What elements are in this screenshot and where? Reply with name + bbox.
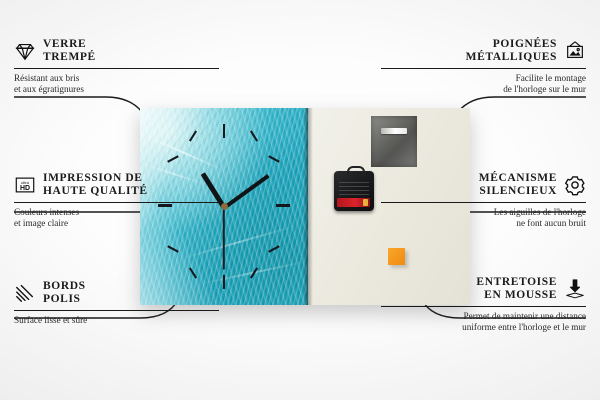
callout-title-line2: TREMPÉ xyxy=(43,51,96,64)
arrow-down-pad-icon xyxy=(564,278,586,300)
clock-mechanism xyxy=(334,171,374,211)
callout-divider xyxy=(14,310,219,311)
callout-title-line2: HAUTE QUALITÉ xyxy=(43,185,148,198)
hanger-plate xyxy=(371,116,417,167)
callout-poignees-metalliques: POIGNÉES MÉTALLIQUES Facilite le montage… xyxy=(381,38,586,95)
ultra-hd-icon: ultra HD xyxy=(14,174,36,196)
battery xyxy=(337,198,370,207)
callout-title-line1: POIGNÉES xyxy=(466,38,557,51)
hands-center-cap xyxy=(221,203,228,210)
callout-divider xyxy=(381,306,586,307)
callout-desc-line2: ne font aucun bruit xyxy=(381,218,586,229)
callout-verre-trempe: VERRE TREMPÉ Résistant aux bris et aux é… xyxy=(14,38,219,95)
callout-desc-line1: Facilite le montage xyxy=(381,73,586,84)
callout-desc-line2: uniforme entre l'horloge et le mur xyxy=(381,322,586,333)
callout-title-line1: IMPRESSION DE xyxy=(43,172,148,185)
second-hand xyxy=(223,207,225,269)
callout-divider xyxy=(381,202,586,203)
gear-icon xyxy=(564,174,586,196)
callout-divider xyxy=(14,68,219,69)
callout-desc-line2: et aux égratignures xyxy=(14,84,219,95)
callout-title-line2: MÉTALLIQUES xyxy=(466,51,557,64)
callout-desc-line2: de l'horloge sur le mur xyxy=(381,84,586,95)
diamond-icon xyxy=(14,40,36,62)
callout-header: ENTRETOISE EN MOUSSE xyxy=(381,276,586,302)
hanger-slot xyxy=(381,128,407,134)
callout-bords-polis: BORDS POLIS Surface lisse et sûre xyxy=(14,280,219,326)
callout-header: VERRE TREMPÉ xyxy=(14,38,219,64)
mechanism-loop xyxy=(347,166,365,176)
callout-divider xyxy=(381,68,586,69)
callout-desc-line2: et image claire xyxy=(14,218,219,229)
callout-mecanisme-silencieux: MÉCANISME SILENCIEUX Les aiguilles de l'… xyxy=(381,172,586,229)
callout-title-line1: BORDS xyxy=(43,280,86,293)
callout-header: ultra HD IMPRESSION DE HAUTE QUALITÉ xyxy=(14,172,219,198)
callout-desc-line1: Couleurs intenses xyxy=(14,207,219,218)
callout-desc-line1: Permet de maintenir une distance xyxy=(381,311,586,322)
callout-desc-line1: Les aiguilles de l'horloge xyxy=(381,207,586,218)
callout-title-line2: SILENCIEUX xyxy=(479,185,557,198)
callout-desc-line1: Surface lisse et sûre xyxy=(14,315,219,326)
callout-entretoise-en-mousse: ENTRETOISE EN MOUSSE Permet de maintenir… xyxy=(381,276,586,333)
callout-title-line1: MÉCANISME xyxy=(479,172,557,185)
callout-impression-haute-qualite: ultra HD IMPRESSION DE HAUTE QUALITÉ Cou… xyxy=(14,172,219,229)
ultra-hd-big-text: HD xyxy=(20,185,30,192)
mechanism-label xyxy=(339,179,369,195)
callout-title-line2: POLIS xyxy=(43,293,86,306)
callout-title-line2: EN MOUSSE xyxy=(476,289,557,302)
diagonal-lines-icon xyxy=(14,282,36,304)
callout-desc-line1: Résistant aux bris xyxy=(14,73,219,84)
callout-header: POIGNÉES MÉTALLIQUES xyxy=(381,38,586,64)
callout-header: MÉCANISME SILENCIEUX xyxy=(381,172,586,198)
picture-frame-icon xyxy=(564,40,586,62)
callout-title-line1: VERRE xyxy=(43,38,96,51)
minute-hand xyxy=(223,174,270,210)
foam-spacer xyxy=(388,248,405,265)
callout-title-line1: ENTRETOISE xyxy=(476,276,557,289)
infographic-stage: VERRE TREMPÉ Résistant aux bris et aux é… xyxy=(0,0,600,400)
callout-divider xyxy=(14,202,219,203)
callout-header: BORDS POLIS xyxy=(14,280,219,306)
